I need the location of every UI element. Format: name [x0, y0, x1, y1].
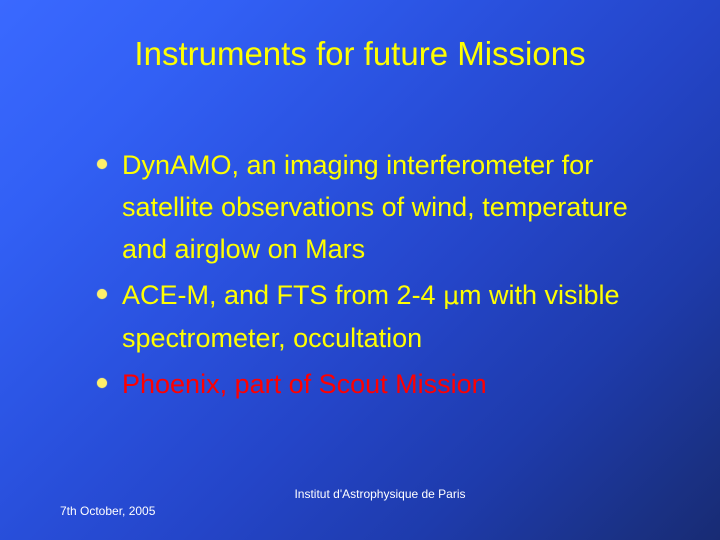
footer-organization: Institut d'Astrophysique de Paris [0, 486, 720, 502]
round-bullet-icon [97, 159, 107, 169]
micro-symbol: μ [443, 281, 459, 310]
footer-date: 7th October, 2005 [60, 503, 155, 519]
round-bullet-icon [97, 378, 107, 388]
list-item[interactable]: Phoenix, part of Scout Mission [92, 363, 652, 405]
list-item[interactable]: ACE-M, and FTS from 2-4 μm with visible … [92, 274, 652, 359]
slide-title: Instruments for future Missions [0, 34, 720, 74]
bullet-text-phoenix: Phoenix, part of Scout Mission [122, 363, 652, 405]
list-item[interactable]: DynAMO, an imaging interferometer for sa… [92, 144, 652, 270]
bullet-list: DynAMO, an imaging interferometer for sa… [92, 144, 652, 409]
bullet-text-acem-part1: ACE-M, and FTS from 2-4 [122, 280, 443, 310]
round-bullet-icon [97, 289, 107, 299]
bullet-text-dynamo: DynAMO, an imaging interferometer for sa… [122, 144, 652, 270]
presentation-slide: Instruments for future Missions DynAMO, … [0, 0, 720, 540]
bullet-text-acem: ACE-M, and FTS from 2-4 μm with visible … [122, 274, 652, 359]
